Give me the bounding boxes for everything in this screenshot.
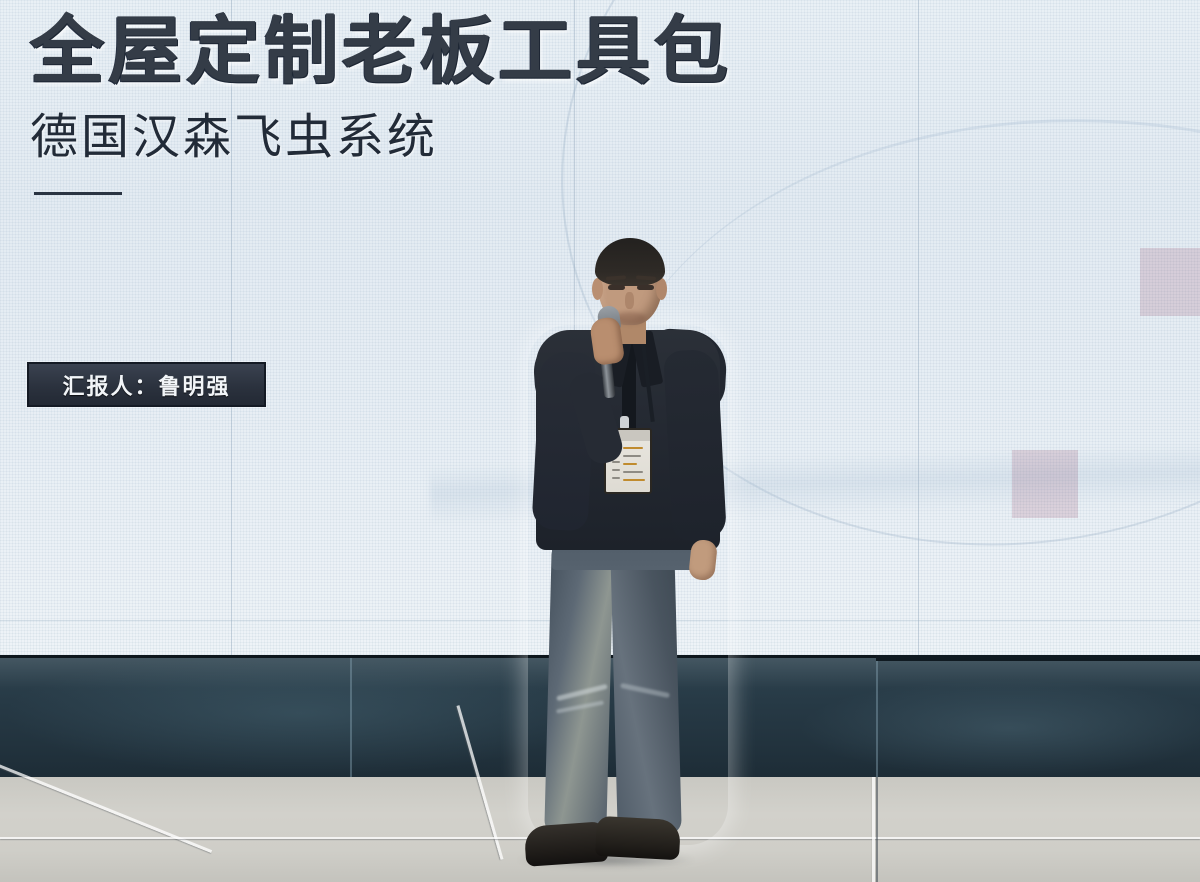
speaker-right-shoe	[595, 816, 681, 860]
id-card-line-6	[612, 469, 620, 471]
speaker-figure	[0, 0, 1200, 882]
id-card-line-1	[623, 447, 643, 449]
speaker-right-hand	[688, 539, 718, 581]
screenshot-root: 全屋定制老板工具包 德国汉森飞虫系统 汇报人：鲁明强	[0, 0, 1200, 882]
speaker-right-arm	[663, 349, 727, 542]
id-card-line-7	[623, 471, 643, 473]
id-card-line-9	[612, 477, 620, 479]
speaker-left-eye	[608, 285, 625, 290]
speaker-nose	[625, 292, 634, 309]
id-card-line-5	[623, 463, 637, 465]
id-card-line-4	[612, 461, 620, 463]
id-card-line-3	[623, 455, 641, 457]
speaker-right-eye	[637, 285, 654, 290]
id-card-line-8	[623, 479, 645, 481]
